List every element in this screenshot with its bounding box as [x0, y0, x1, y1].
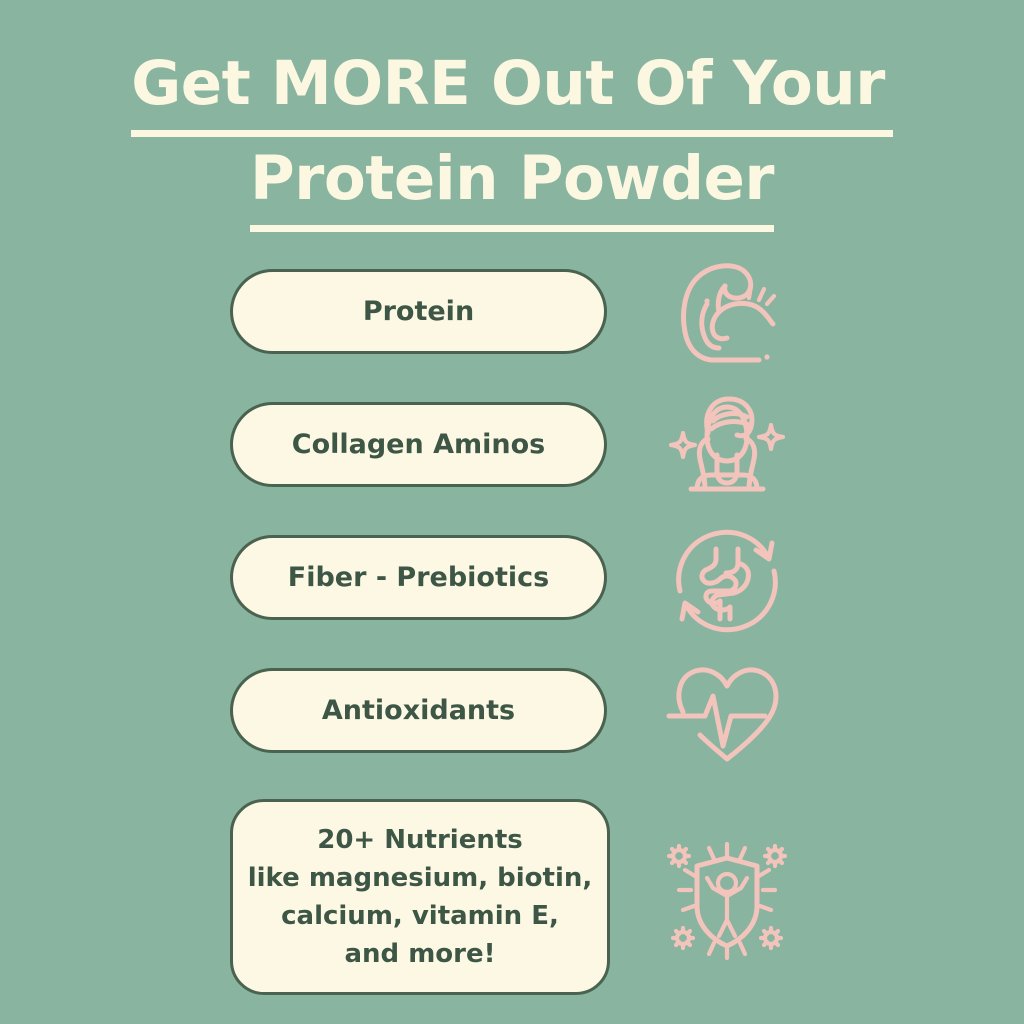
- nutrient-line-3: calcium, vitamin E,: [248, 897, 593, 935]
- benefit-label-collagen: Collagen Aminos: [292, 429, 545, 460]
- benefit-row-antioxidants: Antioxidants: [0, 661, 1024, 761]
- title-line-1-text: Get MORE Out Of Your: [131, 42, 893, 137]
- woman-skincare-sparkle-icon: [662, 392, 792, 504]
- infographic-poster: Get MORE Out Of Your Protein Powder Prot…: [0, 0, 1024, 1024]
- benefit-pill-fiber[interactable]: Fiber - Prebiotics: [230, 535, 607, 620]
- benefit-pill-collagen[interactable]: Collagen Aminos: [230, 402, 607, 487]
- benefit-row-fiber: Fiber - Prebiotics: [0, 528, 1024, 628]
- gut-health-refresh-icon: [662, 525, 792, 637]
- benefit-pill-antioxidants[interactable]: Antioxidants: [230, 668, 607, 753]
- benefit-label-fiber: Fiber - Prebiotics: [288, 562, 549, 593]
- nutrient-line-2: like magnesium, biotin,: [248, 859, 593, 897]
- benefit-pill-nutrients[interactable]: 20+ Nutrients like magnesium, biotin, ca…: [230, 799, 610, 995]
- benefit-row-protein: Protein: [0, 262, 1024, 362]
- benefit-label-antioxidants: Antioxidants: [322, 695, 515, 726]
- title-line-1: Get MORE Out Of Your: [0, 42, 1024, 137]
- benefit-label-protein: Protein: [363, 296, 474, 327]
- title-line-2-text: Protein Powder: [250, 137, 774, 232]
- benefit-pill-protein[interactable]: Protein: [230, 269, 607, 354]
- nutrient-line-4: and more!: [248, 935, 593, 973]
- heart-heartbeat-icon: [662, 658, 792, 770]
- benefit-row-nutrients: 20+ Nutrients like magnesium, biotin, ca…: [0, 794, 1024, 996]
- immunity-shield-person-icon: [662, 836, 792, 961]
- benefit-row-collagen: Collagen Aminos: [0, 395, 1024, 495]
- flexed-bicep-icon: [662, 259, 792, 371]
- page-title: Get MORE Out Of Your Protein Powder: [0, 42, 1024, 232]
- benefit-label-nutrients: 20+ Nutrients like magnesium, biotin, ca…: [248, 821, 593, 973]
- benefit-list: Protein C: [0, 262, 1024, 996]
- title-line-2: Protein Powder: [0, 137, 1024, 232]
- nutrient-line-1: 20+ Nutrients: [248, 821, 593, 859]
